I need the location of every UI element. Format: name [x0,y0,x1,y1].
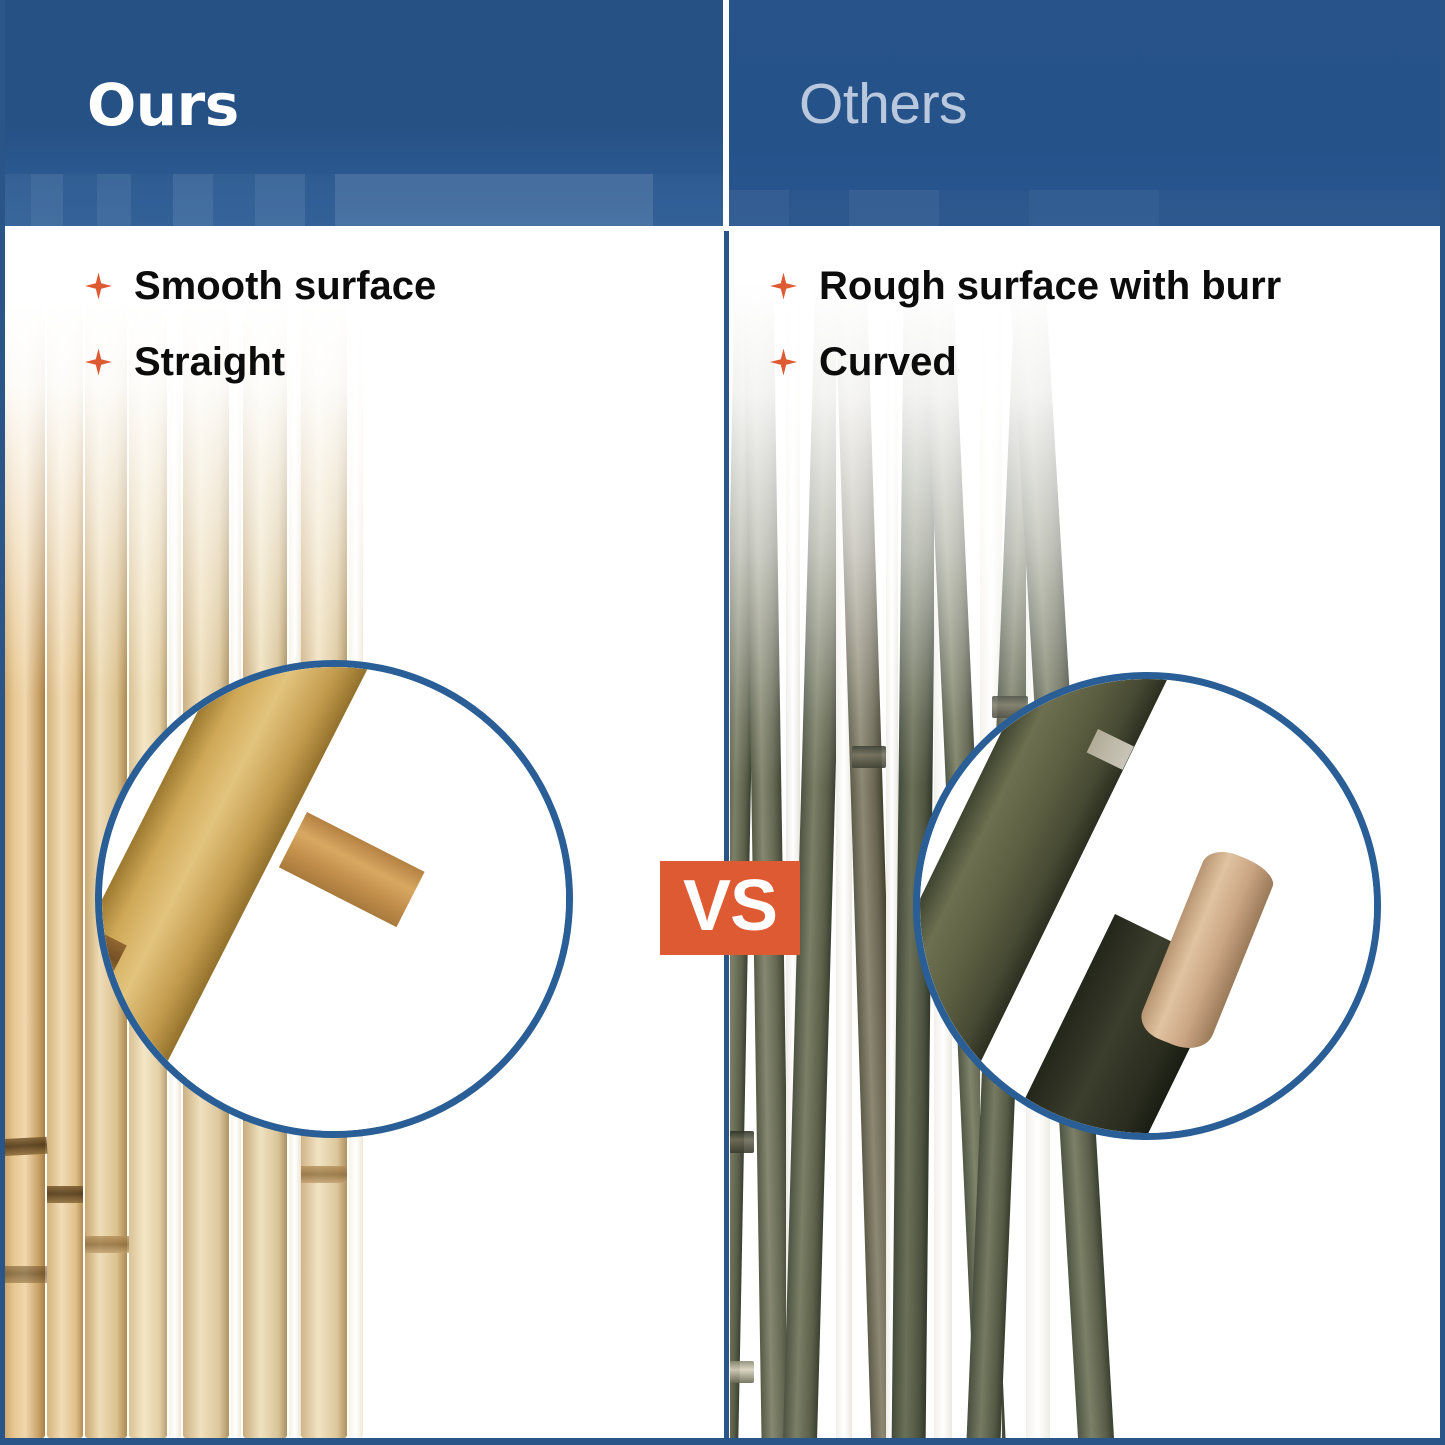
bullets-others: Rough surface with burr Curved [770,266,1281,418]
list-item: Smooth surface [85,266,436,306]
panel-divider [724,231,729,1438]
magnifier-circle-others [913,672,1381,1140]
list-item: Curved [770,342,1281,382]
bullet-label: Straight [134,342,285,382]
magnifier-circle-ours [95,660,573,1138]
vs-badge: VS [660,861,800,955]
sparkle-icon [770,349,797,376]
header-title-others: Others [799,76,967,133]
sparkle-icon [85,273,112,300]
header-left-ours: Ours [5,0,723,226]
bullet-label: Rough surface with burr [819,266,1281,306]
bullet-label: Curved [819,342,957,382]
sparkle-icon [770,273,797,300]
list-item: Rough surface with burr [770,266,1281,306]
header-right-others: Others [729,0,1445,226]
sparkle-icon [85,349,112,376]
list-item: Straight [85,342,436,382]
header-title-ours: Ours [87,76,239,134]
comparison-infographic: Ours Others [0,0,1445,1445]
bullet-label: Smooth surface [134,266,436,306]
bullets-ours: Smooth surface Straight [85,266,436,418]
header-bar: Ours Others [5,0,1445,226]
vs-label: VS [683,870,777,942]
